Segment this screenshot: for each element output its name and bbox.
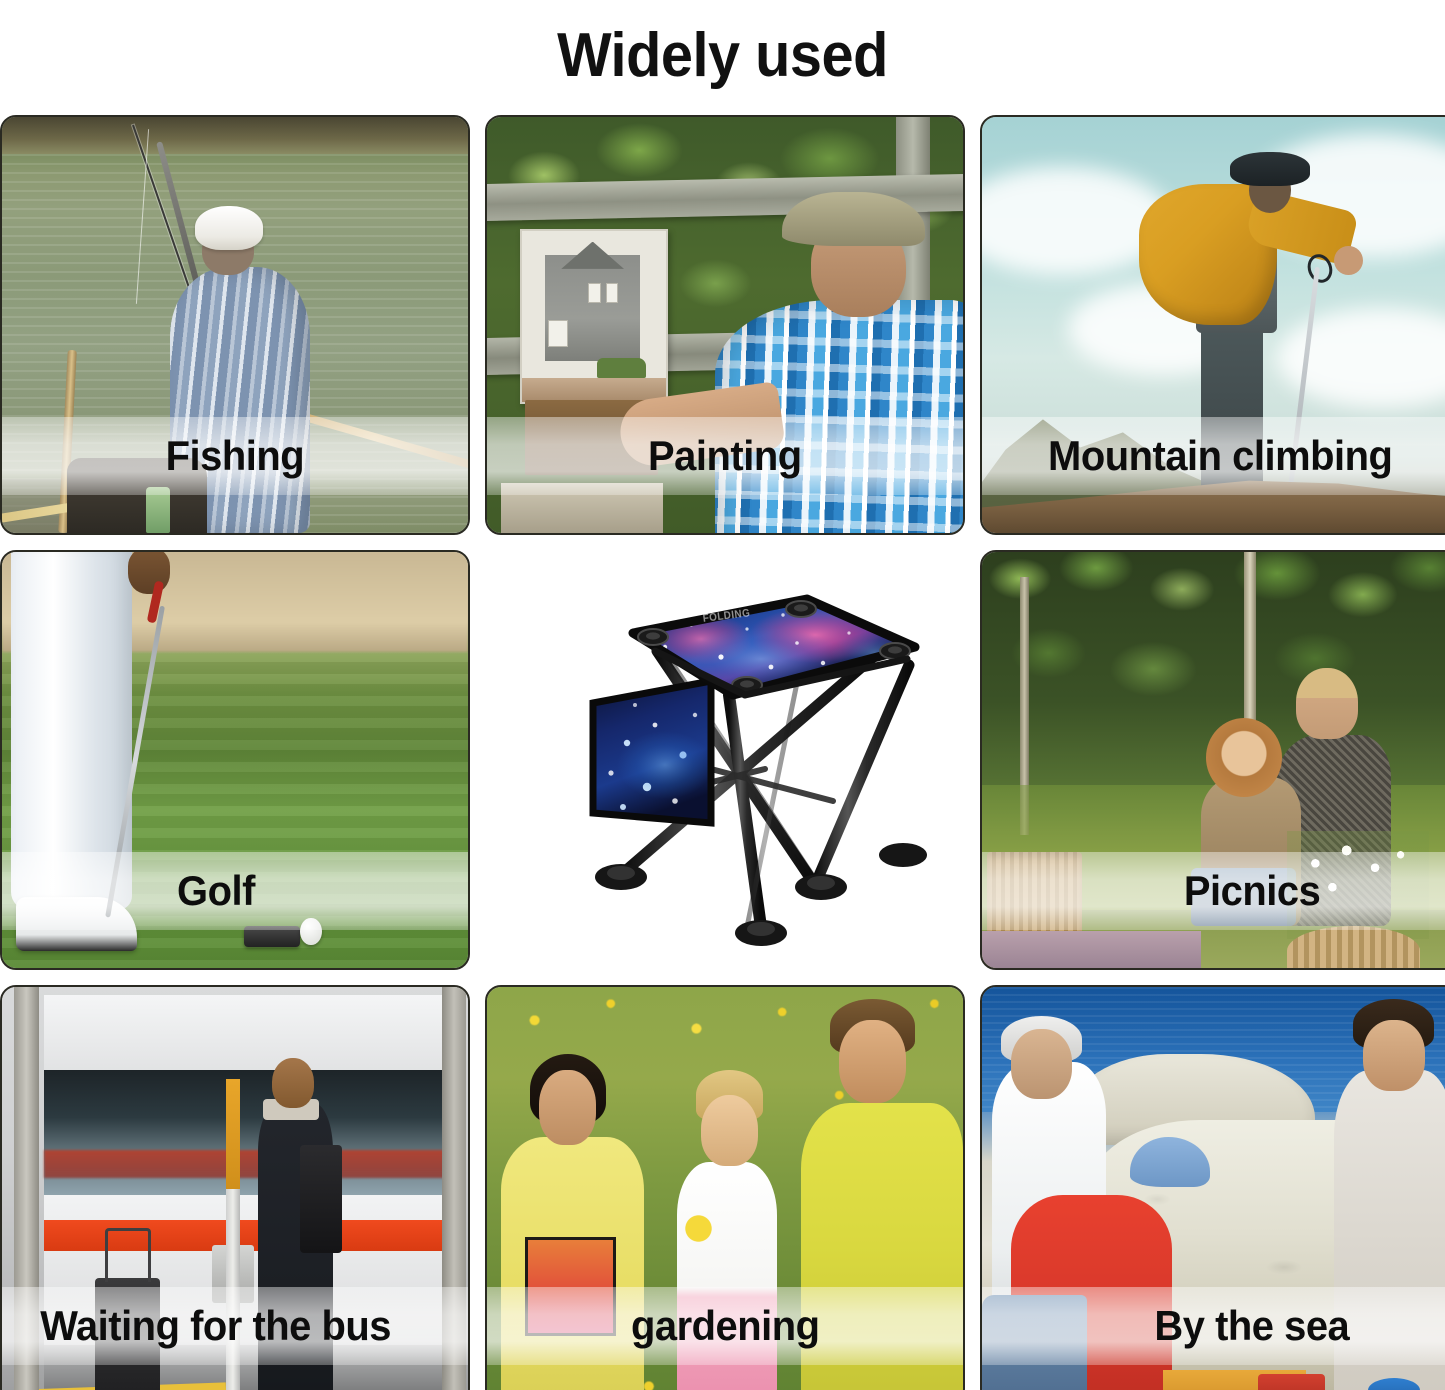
scenario-tile-waiting-for-the-bus[interactable]: Waiting for the bus xyxy=(0,985,470,1390)
water-bottle xyxy=(146,487,169,533)
child-head xyxy=(1206,718,1282,797)
train-windows xyxy=(44,1070,454,1195)
man-yellow-shirt xyxy=(801,1103,963,1390)
shoulder-bag xyxy=(300,1145,342,1253)
picnic-hamper xyxy=(987,852,1082,944)
picnics-photo xyxy=(982,552,1445,968)
golfer-hand xyxy=(128,552,170,594)
child-head xyxy=(701,1095,758,1166)
mountain-climbing-photo xyxy=(982,117,1445,533)
folding-stool-product: FOLDING xyxy=(515,555,935,965)
painted-window xyxy=(588,283,601,303)
suitcase-handle xyxy=(105,1228,152,1282)
hiker-legs xyxy=(1201,308,1263,499)
scenario-tile-picnics[interactable]: Picnics xyxy=(980,550,1445,970)
bucket-hat xyxy=(195,206,263,250)
hiker-hat xyxy=(1230,152,1311,185)
dandelion-in-hand xyxy=(682,1212,715,1245)
platform-post xyxy=(226,1079,240,1390)
scenario-tile-mountain-climbing[interactable]: Mountain climbing xyxy=(980,115,1445,535)
suitcase xyxy=(95,1278,160,1390)
painted-shrub xyxy=(597,358,646,378)
child-jeans xyxy=(1191,868,1296,926)
painting-photo xyxy=(487,117,963,533)
widely-used-infographic: Widely used Fishing xyxy=(0,0,1445,1390)
scenario-tile-painting[interactable]: Painting xyxy=(485,115,965,535)
woman-right-head xyxy=(1363,1020,1425,1091)
station-pillar-right xyxy=(442,987,465,1390)
man-head xyxy=(1011,1029,1073,1100)
painted-ground xyxy=(522,378,666,402)
woman-head xyxy=(539,1070,596,1145)
paint-palette xyxy=(501,483,663,533)
golf-ball xyxy=(300,918,321,945)
far-bank xyxy=(2,117,468,154)
shirt-graphic-print xyxy=(525,1237,615,1337)
picnic-blanket xyxy=(982,931,1201,968)
station-pillar-left xyxy=(14,987,40,1390)
hiker-hand xyxy=(1334,246,1363,275)
page-title: Widely used xyxy=(51,0,1395,110)
foreground-basket xyxy=(1287,926,1420,968)
product-image-cell: FOLDING xyxy=(485,550,965,970)
golfer-trousers xyxy=(11,552,132,910)
by-the-sea-photo xyxy=(982,987,1445,1390)
scenario-tile-by-the-sea[interactable]: By the sea xyxy=(980,985,1445,1390)
scenario-tile-golf[interactable]: Golf xyxy=(0,550,470,970)
putter-head xyxy=(244,926,300,947)
waiting-for-the-bus-photo xyxy=(2,987,468,1390)
red-bag xyxy=(1258,1374,1325,1390)
painted-window xyxy=(606,283,619,303)
painting-canvas xyxy=(520,229,668,404)
tackle-bag xyxy=(67,458,207,533)
woman-right xyxy=(1334,1070,1445,1390)
woman-head xyxy=(1296,668,1358,739)
golf-photo xyxy=(2,552,468,968)
train-roof xyxy=(44,995,454,1070)
traveler-head xyxy=(272,1058,314,1108)
scenario-tile-fishing[interactable]: Fishing xyxy=(0,115,470,535)
usage-scenarios-grid: Fishing xyxy=(0,115,1445,1390)
painted-window xyxy=(548,320,568,347)
flower-bouquet xyxy=(1287,831,1430,939)
fishing-photo xyxy=(2,117,468,533)
man-head xyxy=(839,1020,906,1103)
scenario-tile-gardening[interactable]: gardening xyxy=(485,985,965,1390)
child-body xyxy=(677,1162,777,1390)
gardening-photo xyxy=(487,987,963,1390)
golf-shoe xyxy=(16,897,137,951)
woman-jeans xyxy=(982,1295,1087,1390)
